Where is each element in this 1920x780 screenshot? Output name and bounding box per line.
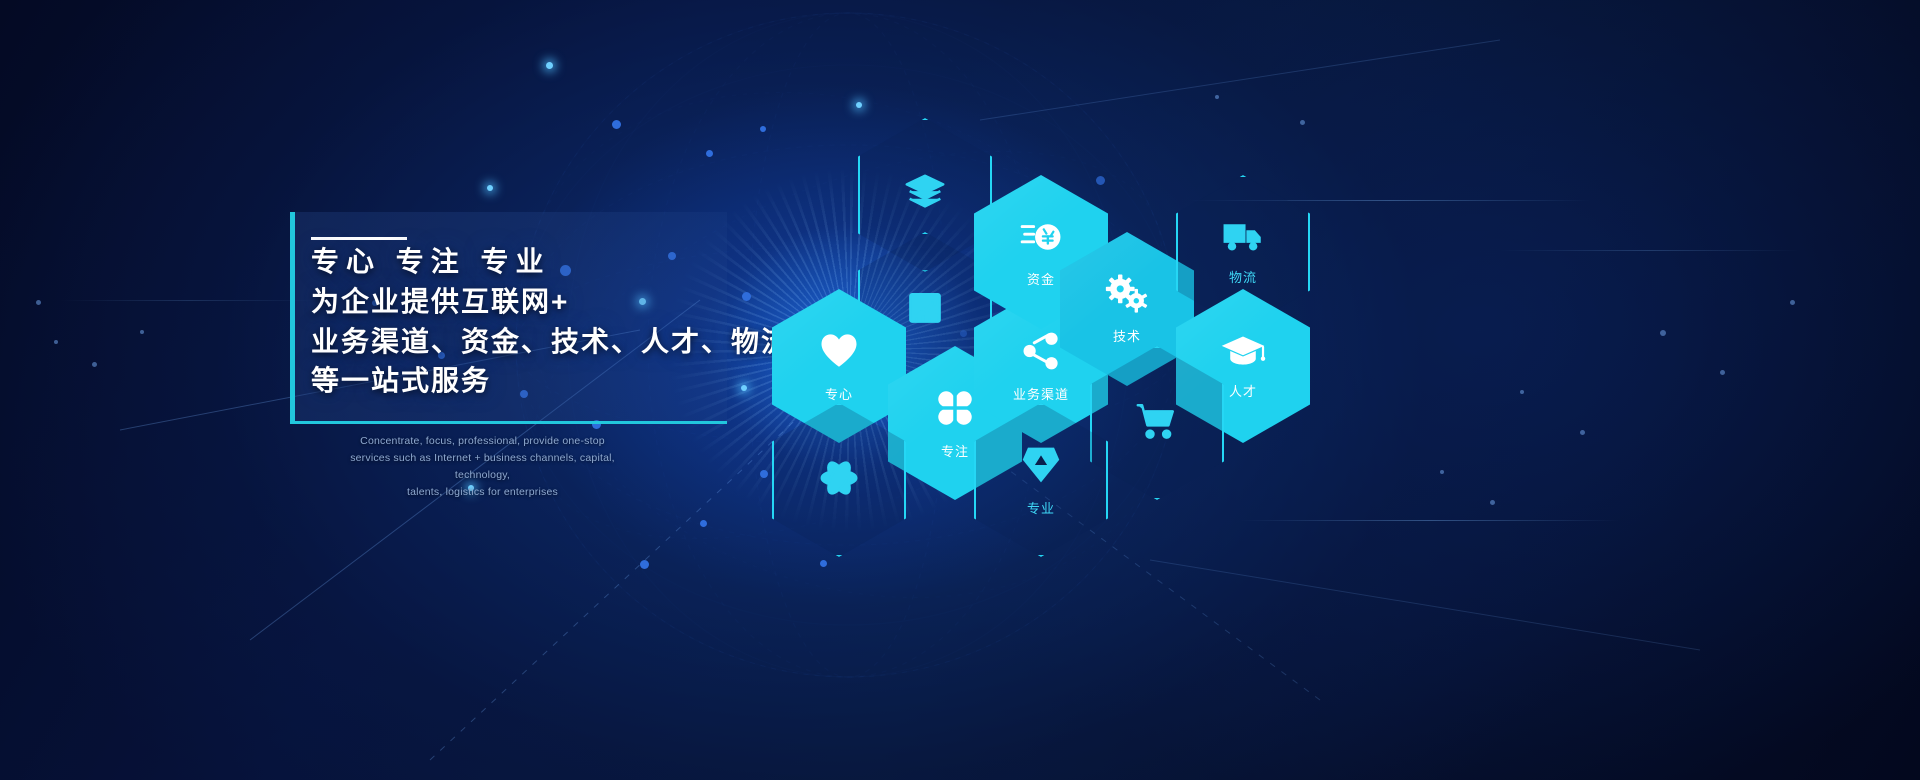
svg-text:e: e: [1155, 410, 1161, 425]
cart-e-icon: e: [1134, 400, 1180, 447]
hexagon-science[interactable]: [772, 403, 906, 557]
subtitle-line-3: talents, logistics for enterprises: [330, 484, 635, 501]
headline-block: 专心 专注 专业 为企业提供互联网+ 业务渠道、资金、技术、人才、物流 等一站式…: [311, 242, 781, 401]
graduation-cap-icon: [1220, 333, 1266, 374]
hexagon-label: 专心: [825, 384, 853, 403]
layers-stack-icon: [902, 170, 948, 221]
hexagon-label: 技术: [1113, 326, 1141, 345]
headline-line-2: 为企业提供互联网+: [311, 282, 781, 322]
subtitle-line-1: Concentrate, focus, professional, provid…: [330, 433, 635, 450]
yen-coin-icon: [1019, 217, 1063, 262]
headline-line-3: 业务渠道、资金、技术、人才、物流: [311, 322, 781, 362]
atom-icon: [817, 456, 861, 505]
diamond-icon: [1021, 444, 1061, 491]
headline-line-4: 等一站式服务: [311, 361, 781, 401]
title-rule: [311, 237, 407, 240]
hexagon-label: 专业: [1027, 498, 1055, 517]
bar-chart-icon: [903, 285, 947, 334]
truck-icon: [1221, 219, 1265, 260]
clover-icon: [934, 387, 976, 434]
headline-line-1: 专心 专注 专业: [311, 242, 781, 282]
hero-banner: 专心 专注 专业 为企业提供互联网+ 业务渠道、资金、技术、人才、物流 等一站式…: [0, 0, 1920, 780]
subtitle-line-2: services such as Internet + business cha…: [330, 450, 635, 484]
share-nodes-icon: [1020, 330, 1062, 377]
hexagon-label: 人才: [1229, 381, 1257, 400]
hexagon-label: 业务渠道: [1013, 384, 1069, 403]
heart-icon: [818, 330, 860, 377]
hexagon-label: 资金: [1027, 269, 1055, 288]
hexagon-label: 专注: [941, 441, 969, 460]
hexagon-cluster: 专心 专注: [744, 96, 1304, 536]
subtitle-block: Concentrate, focus, professional, provid…: [330, 433, 635, 501]
gears-icon: [1105, 274, 1149, 319]
hexagon-label: 物流: [1229, 267, 1257, 286]
